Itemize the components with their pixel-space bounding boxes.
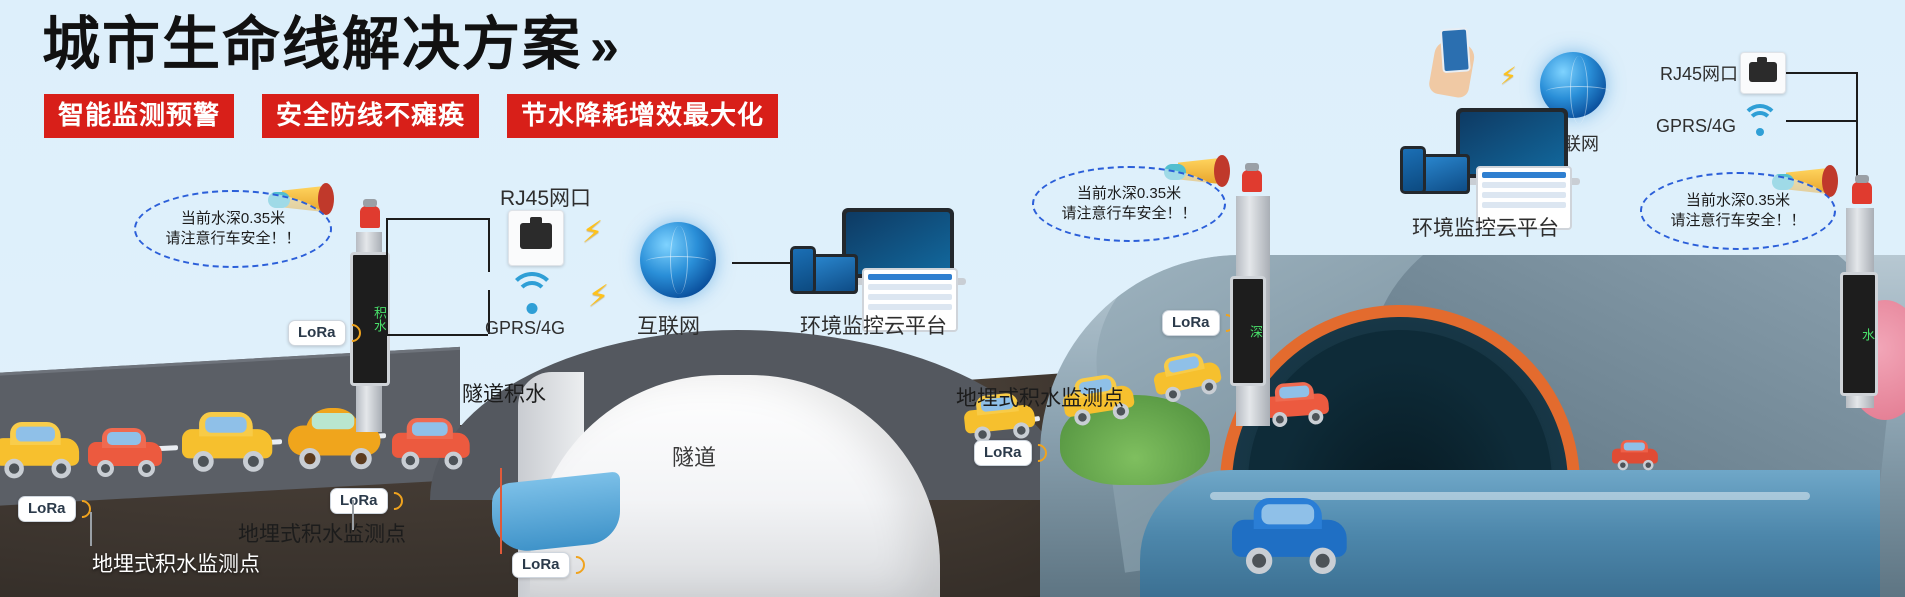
- laptop-screen: [1460, 112, 1564, 174]
- badge-2: 安全防线不瘫痪: [262, 94, 479, 138]
- monitor-point-label-2: 地埋式积水监测点: [238, 518, 406, 548]
- lora-badge-text: LoRa: [984, 444, 1022, 461]
- sensor-stem-3: [500, 468, 502, 554]
- car-wheel: [97, 460, 114, 477]
- megaphone-mouth: [1214, 155, 1230, 187]
- lora-badge-4: LoRa: [512, 552, 570, 578]
- wifi-dot: [1756, 128, 1764, 136]
- tunnel-water-label: 隧道积水: [462, 378, 546, 408]
- led-display-right: 水: [1840, 272, 1878, 396]
- warning-beacon-middle: [1242, 170, 1262, 192]
- wire-globe-to-cloud: [732, 262, 790, 264]
- led-display-text: 水: [1860, 328, 1875, 341]
- monitor-row: [1482, 192, 1566, 198]
- badge-3: 节水降耗增效最大化: [507, 94, 778, 138]
- wire-rj45-right: [1786, 72, 1856, 74]
- internet-label-left: 互联网: [637, 310, 700, 340]
- rj45-label-right: RJ45网口: [1660, 60, 1738, 86]
- wire-gprs-right: [1786, 120, 1856, 122]
- alert-line-1: 当前水深0.35米: [181, 209, 285, 229]
- car-window: [1261, 504, 1314, 524]
- wire-right-down: [1856, 72, 1858, 192]
- tablet-screen: [1421, 157, 1467, 191]
- cloud-platform-label-right: 环境监控云平台: [1412, 212, 1559, 242]
- car-window: [205, 417, 246, 433]
- rj45-port-opening: [520, 223, 552, 249]
- car-wheel: [1246, 548, 1272, 574]
- car-window: [1279, 385, 1310, 398]
- wire-pole-to-rj45: [386, 218, 490, 220]
- car-wheel: [299, 448, 320, 469]
- car-window: [312, 413, 355, 429]
- wifi-dot: [527, 303, 538, 314]
- badge-row: 智能监测预警 安全防线不瘫痪 节水降耗增效最大化: [44, 94, 778, 138]
- warning-beacon-right: [1852, 182, 1872, 204]
- lora-badge-2: LoRa: [18, 496, 76, 522]
- lora-badge-text: LoRa: [28, 500, 66, 517]
- car-wheel: [193, 451, 214, 472]
- phone-screen: [1403, 149, 1423, 191]
- car-wheel: [1643, 460, 1654, 471]
- monitor-row: [868, 274, 952, 280]
- globe-internet-icon-left: [640, 222, 716, 298]
- alert-line-1: 当前水深0.35米: [1686, 191, 1790, 211]
- car-wheel: [1310, 548, 1336, 574]
- monitor-row: [868, 294, 952, 300]
- lora-badge-5: LoRa: [974, 440, 1032, 466]
- car-wheel: [1618, 460, 1629, 471]
- sensor-stem-2: [352, 500, 354, 530]
- monitor-row: [1482, 182, 1566, 188]
- hand-holding-phone-icon: [1428, 39, 1477, 99]
- tunnel-label: 隧道: [672, 440, 716, 472]
- lora-badge-3: LoRa: [330, 488, 388, 514]
- lora-badge-text: LoRa: [1172, 314, 1210, 331]
- car-wheel: [4, 459, 24, 479]
- alert-bubble-right: 当前水深0.35米 请注意行车安全！！: [1640, 172, 1836, 250]
- chevron-double-right-icon: »: [590, 18, 621, 76]
- car-window: [412, 422, 448, 436]
- led-display-text: 积水: [372, 306, 387, 332]
- alert-bubble-middle: 当前水深0.35米 请注意行车安全！！: [1032, 166, 1226, 242]
- car-wheel: [445, 452, 463, 470]
- alert-bubble-left: 当前水深0.35米 请注意行车安全！！: [134, 190, 332, 268]
- lora-badge-text: LoRa: [522, 556, 560, 573]
- lora-badge-text: LoRa: [298, 324, 336, 341]
- sensor-stem-1: [90, 512, 92, 546]
- phone-icon: [790, 246, 816, 294]
- phone-screen: [793, 249, 813, 291]
- car-window: [107, 432, 141, 445]
- alert-line-2: 请注意行车安全！！: [1670, 211, 1805, 231]
- lora-badge-1: LoRa: [288, 320, 346, 346]
- alert-line-2: 请注意行车安全！！: [165, 229, 300, 249]
- wire-to-gprs: [386, 334, 488, 336]
- infographic-canvas: 城市生命线解决方案» 智能监测预警 安全防线不瘫痪 节水降耗增效最大化: [0, 0, 1905, 597]
- page-title: 城市生命线解决方案»: [42, 14, 621, 78]
- rj45-port-icon-right: [1740, 52, 1786, 94]
- monitor-row: [1482, 172, 1566, 178]
- car-wheel: [138, 460, 155, 477]
- wire-rj45-drop: [488, 218, 490, 272]
- car-wheel: [351, 448, 372, 469]
- wifi-signal-icon-right: [1740, 104, 1780, 136]
- laptop-screen: [846, 212, 950, 274]
- wifi-signal-icon-left: [506, 272, 558, 314]
- car-wheel: [243, 451, 264, 472]
- monitor-point-label-1: 地埋式积水监测点: [92, 548, 260, 578]
- cloud-platform-label-left: 环境监控云平台: [800, 310, 947, 340]
- phone-in-hand: [1440, 27, 1471, 73]
- rj45-port-opening: [1749, 62, 1777, 82]
- led-display-left: 积水: [350, 252, 390, 386]
- rj45-label-left: RJ45网口: [500, 182, 591, 212]
- alert-line-2: 请注意行车安全！！: [1061, 204, 1196, 224]
- car-window: [1624, 442, 1645, 450]
- alert-line-1: 当前水深0.35米: [1077, 184, 1181, 204]
- lora-badge-text: LoRa: [340, 492, 378, 509]
- rj45-port-icon-left: [508, 210, 564, 266]
- wire-pole-down: [386, 218, 388, 334]
- warning-beacon-left: [360, 206, 380, 228]
- car-window: [16, 427, 55, 442]
- led-display-middle: 深: [1230, 276, 1266, 386]
- lora-badge-6: LoRa: [1162, 310, 1220, 336]
- badge-1: 智能监测预警: [44, 94, 234, 138]
- gprs-label-right: GPRS/4G: [1656, 116, 1736, 137]
- phone-icon: [1400, 146, 1426, 194]
- monitor-point-label-3: 地埋式积水监测点: [956, 382, 1124, 412]
- monitor-row: [868, 284, 952, 290]
- monitor-row: [1482, 202, 1566, 208]
- page-title-text: 城市生命线解决方案: [42, 12, 582, 77]
- led-display-text: 深: [1248, 325, 1263, 338]
- car-wheel: [401, 452, 419, 470]
- gprs-label-left: GPRS/4G: [485, 318, 565, 339]
- car-wheel: [52, 459, 72, 479]
